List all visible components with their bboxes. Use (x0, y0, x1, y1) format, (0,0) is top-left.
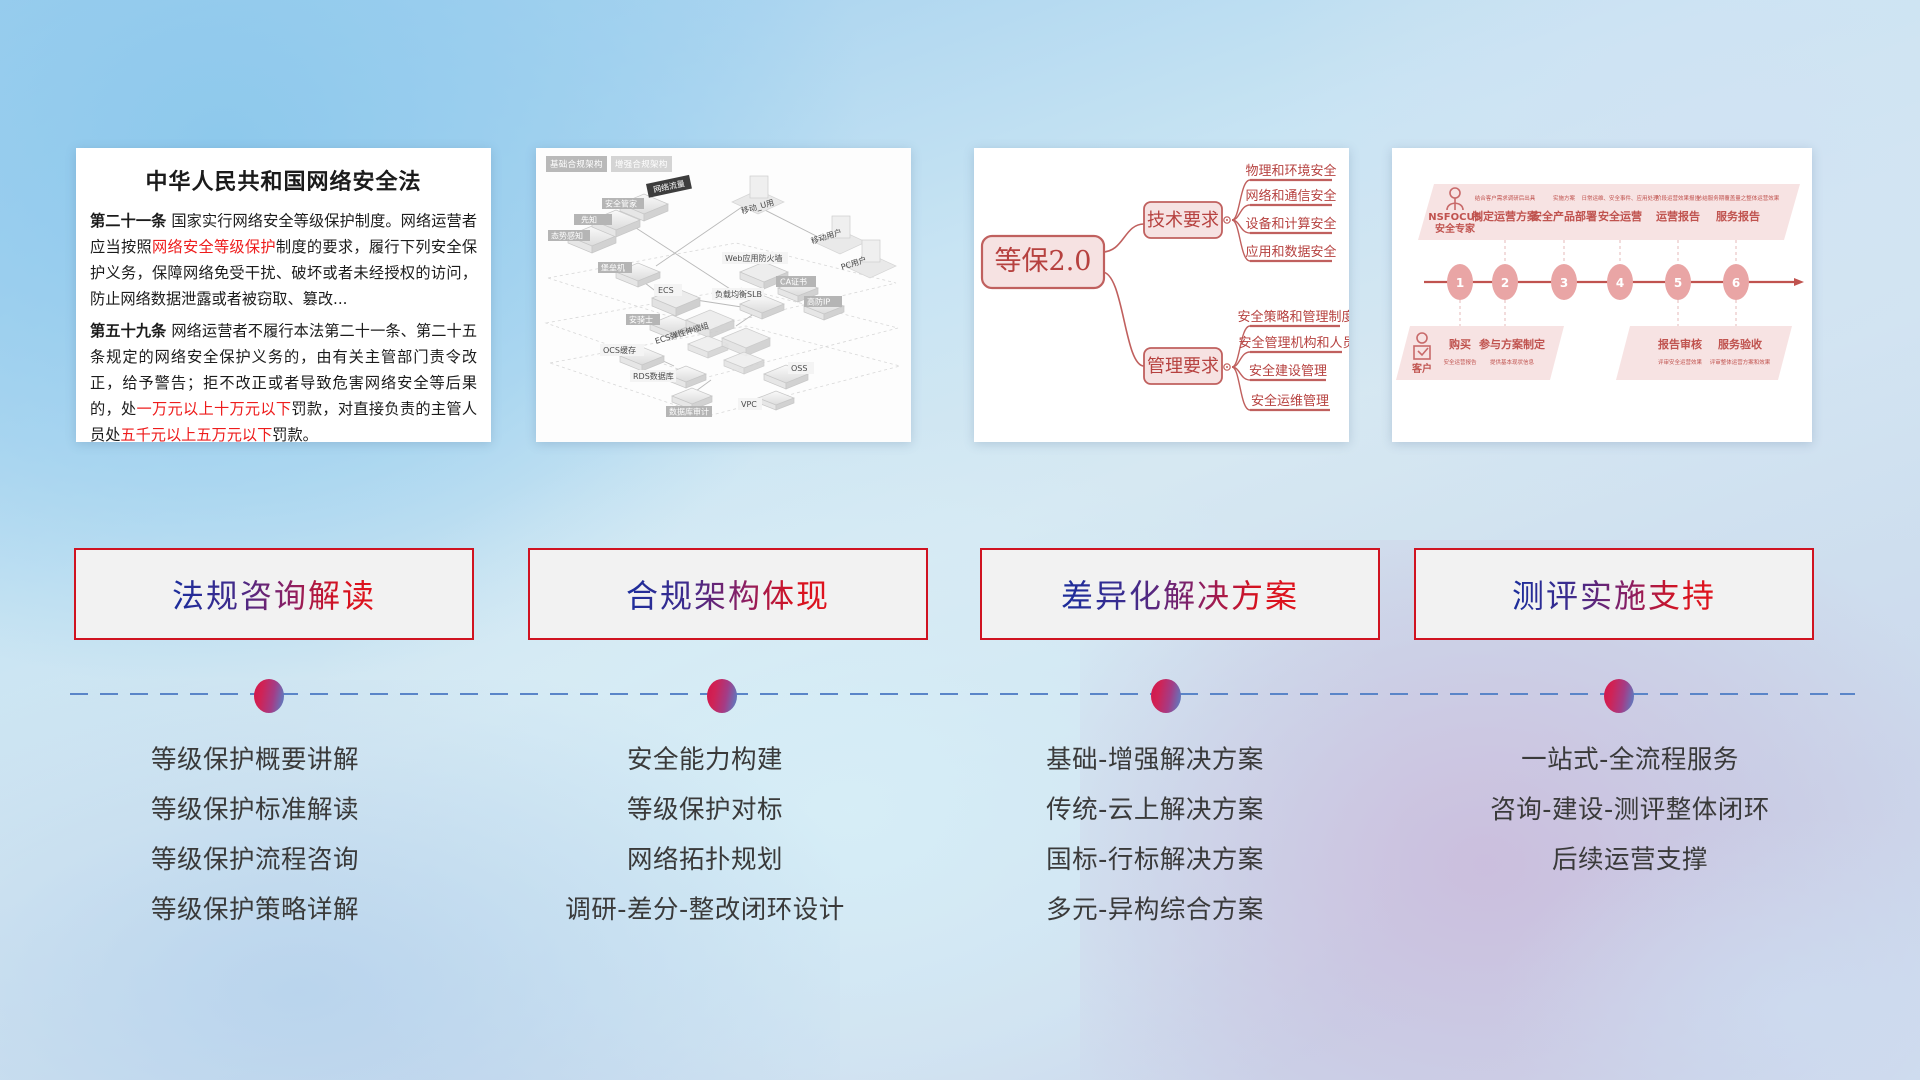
step-desc: 结合客户需求调研后出具 (1475, 194, 1536, 202)
list-item: 网络拓扑规划 (490, 835, 920, 885)
node-label: OSS (791, 364, 807, 373)
mindmap-leaf: 安全运维管理 (1251, 393, 1329, 409)
list-item: 等级保护流程咨询 (40, 835, 470, 885)
actor-name: 客户 (1411, 362, 1432, 375)
section-items-row: 等级保护概要讲解 等级保护标准解读 等级保护流程咨询 等级保护策略详解 安全能力… (0, 735, 1920, 995)
law-seg-highlight: 一万元以上十万元以下 (136, 400, 291, 418)
list-item: 咨询-建设-测评整体闭环 (1400, 785, 1860, 835)
section-items-architecture: 安全能力构建 等级保护对标 网络拓扑规划 调研-差分-整改闭环设计 (490, 735, 920, 935)
list-item: 等级保护概要讲解 (40, 735, 470, 785)
section-heading-assessment[interactable]: 测评实施支持 (1414, 548, 1814, 640)
node-label: 数据库审计 (669, 407, 709, 417)
node-label: CA证书 (780, 277, 807, 287)
node-label: Web应用防火墙 (725, 253, 782, 263)
mindmap-leaf: 安全策略和管理制度 (1237, 309, 1349, 325)
section-heading-architecture[interactable]: 合规架构体现 (528, 548, 928, 640)
list-item: 调研-差分-整改闭环设计 (490, 885, 920, 935)
card-nsfocus-process[interactable]: NSFOCUS 安全专家 客户 1 2 (1392, 148, 1812, 442)
node-label: 态势感知 (551, 231, 583, 241)
step-number: 6 (1732, 276, 1740, 290)
node-label: OCS缓存 (603, 345, 636, 355)
section-heading-regulation[interactable]: 法规咨询解读 (74, 548, 474, 640)
step-label: 安全产品部署 (1531, 209, 1597, 223)
node-label: 安全管家 (605, 199, 637, 209)
card-compliance-architecture[interactable]: 基础合规架构 增强合规架构 (536, 148, 911, 442)
law-body: 中华人民共和国网络安全法 第二十一条 国家实行网络安全等级保护制度。网络运营者应… (76, 148, 491, 442)
law-paragraph-21: 第二十一条 国家实行网络安全等级保护制度。网络运营者应当按照网络安全等级保护制度… (90, 208, 477, 312)
section-items-regulation: 等级保护概要讲解 等级保护标准解读 等级保护流程咨询 等级保护策略详解 (40, 735, 470, 935)
law-seg: 罚款。 (272, 426, 318, 442)
list-item: 传统-云上解决方案 (940, 785, 1370, 835)
actor-role: 安全专家 (1435, 222, 1476, 235)
card-dengbao-mindmap[interactable]: 等保2.0 技术要求 (974, 148, 1349, 442)
step-label: 服务验收 (1718, 337, 1762, 351)
section-items-solutions: 基础-增强解决方案 传统-云上解决方案 国标-行标解决方案 多元-异构综合方案 (940, 735, 1370, 935)
law-paragraph-59: 第五十九条 网络运营者不履行本法第二十一条、第二十五条规定的网络安全保护义务的，… (90, 318, 477, 442)
step-desc: 安全运营报告 (1443, 358, 1477, 366)
architecture-diagram: 基础合规架构 增强合规架构 (536, 148, 911, 442)
list-item: 基础-增强解决方案 (940, 735, 1370, 785)
node-label: 先知 (581, 215, 597, 225)
node-label: VPC (741, 400, 757, 409)
section-heading-row: 法规咨询解读 合规架构体现 差异化解决方案 测评实施支持 (0, 548, 1920, 640)
list-item: 等级保护标准解读 (40, 785, 470, 835)
bottom-lane-banner-right (1616, 326, 1792, 380)
list-item: 国标-行标解决方案 (940, 835, 1370, 885)
list-item: 等级保护策略详解 (40, 885, 470, 935)
step-desc: 评审整体运营方案和效果 (1710, 358, 1771, 366)
step-number: 5 (1674, 276, 1682, 290)
list-item: 等级保护对标 (490, 785, 920, 835)
step-label: 服务报告 (1716, 209, 1760, 223)
step-desc: 评审安全运营效果 (1658, 358, 1703, 366)
list-item: 一站式-全流程服务 (1400, 735, 1860, 785)
law-article-label-59: 第五十九条 (90, 322, 166, 340)
mindmap-branch-label: 管理要求 (1147, 356, 1219, 377)
step-desc: 总结服务期覆盖量之整体运营效果 (1697, 194, 1780, 202)
timeline-arrow (1794, 278, 1804, 286)
section-heading-label: 法规咨询解读 (172, 571, 376, 617)
node-label: 安骑士 (629, 315, 653, 325)
law-title: 中华人民共和国网络安全法 (90, 164, 477, 196)
mindmap-leaf: 应用和数据安全 (1245, 244, 1336, 260)
node-label: RDS数据库 (633, 371, 674, 381)
mindmap-svg: 等保2.0 技术要求 (974, 148, 1349, 442)
step-desc: 日常运维、安全事件、应用处理 (1581, 194, 1659, 202)
section-heading-label: 合规架构体现 (626, 571, 830, 617)
step-number: 1 (1456, 276, 1464, 290)
mindmap-root-label: 等保2.0 (995, 246, 1092, 277)
step-desc: 提供基本现状信息 (1490, 358, 1535, 366)
mindmap: 等保2.0 技术要求 (974, 148, 1349, 442)
step-label: 运营报告 (1656, 209, 1700, 223)
step-desc: 实施方案 (1553, 194, 1576, 202)
architecture-svg: 网络流量 安全管家 先知 态势感知 堡垒机 移动_U用 Web应用防火墙 CA证… (536, 148, 911, 442)
step-label: 购买 (1449, 337, 1471, 351)
law-article-label-21: 第二十一条 (90, 212, 166, 230)
list-item: 后续运营支撑 (1400, 835, 1860, 885)
step-label: 参与方案制定 (1479, 337, 1545, 351)
step-desc: 阶段运营效果报告 (1656, 194, 1701, 202)
section-heading-label: 差异化解决方案 (1061, 571, 1299, 617)
nsfocus-timeline: NSFOCUS 安全专家 客户 1 2 (1392, 148, 1812, 442)
step-label: 安全运营 (1598, 209, 1642, 223)
list-item: 多元-异构综合方案 (940, 885, 1370, 935)
step-number: 2 (1501, 276, 1509, 290)
section-heading-solutions[interactable]: 差异化解决方案 (980, 548, 1380, 640)
mindmap-leaf: 安全建设管理 (1249, 363, 1327, 379)
mindmap-leaf: 设备和计算安全 (1245, 216, 1336, 232)
step-label: 报告审核 (1658, 337, 1702, 351)
node-label: 高防IP (807, 297, 830, 307)
timeline-dot-2[interactable] (707, 679, 737, 713)
section-heading-label: 测评实施支持 (1512, 571, 1716, 617)
card-row: 中华人民共和国网络安全法 第二十一条 国家实行网络安全等级保护制度。网络运营者应… (0, 148, 1920, 442)
section-items-assessment: 一站式-全流程服务 咨询-建设-测评整体闭环 后续运营支撑 (1400, 735, 1860, 885)
card-cybersecurity-law[interactable]: 中华人民共和国网络安全法 第二十一条 国家实行网络安全等级保护制度。网络运营者应… (76, 148, 491, 442)
law-seg-highlight: 五千元以上五万元以下 (120, 426, 272, 442)
node-label: 堡垒机 (601, 263, 625, 273)
law-seg-highlight: 网络安全等级保护 (152, 238, 276, 256)
mindmap-leaf: 安全管理机构和人员 (1238, 335, 1349, 351)
list-item: 安全能力构建 (490, 735, 920, 785)
node-label: ECS (658, 286, 674, 295)
mindmap-leaf: 物理和环境安全 (1245, 163, 1336, 179)
timeline-dot-1[interactable] (254, 679, 284, 713)
step-number: 3 (1560, 276, 1568, 290)
step-number: 4 (1616, 276, 1624, 290)
timeline-dot-3[interactable] (1151, 679, 1181, 713)
step-label: 制定运营方案 (1472, 209, 1539, 223)
slide-canvas: 中华人民共和国网络安全法 第二十一条 国家实行网络安全等级保护制度。网络运营者应… (0, 0, 1920, 1080)
node-label: 负载均衡SLB (715, 289, 762, 299)
timeline-dashed-line (70, 693, 1855, 695)
nsfocus-svg: NSFOCUS 安全专家 客户 1 2 (1392, 148, 1812, 442)
mindmap-leaf: 网络和通信安全 (1245, 188, 1336, 204)
timeline-dot-4[interactable] (1604, 679, 1634, 713)
mindmap-branch-label: 技术要求 (1147, 210, 1219, 231)
